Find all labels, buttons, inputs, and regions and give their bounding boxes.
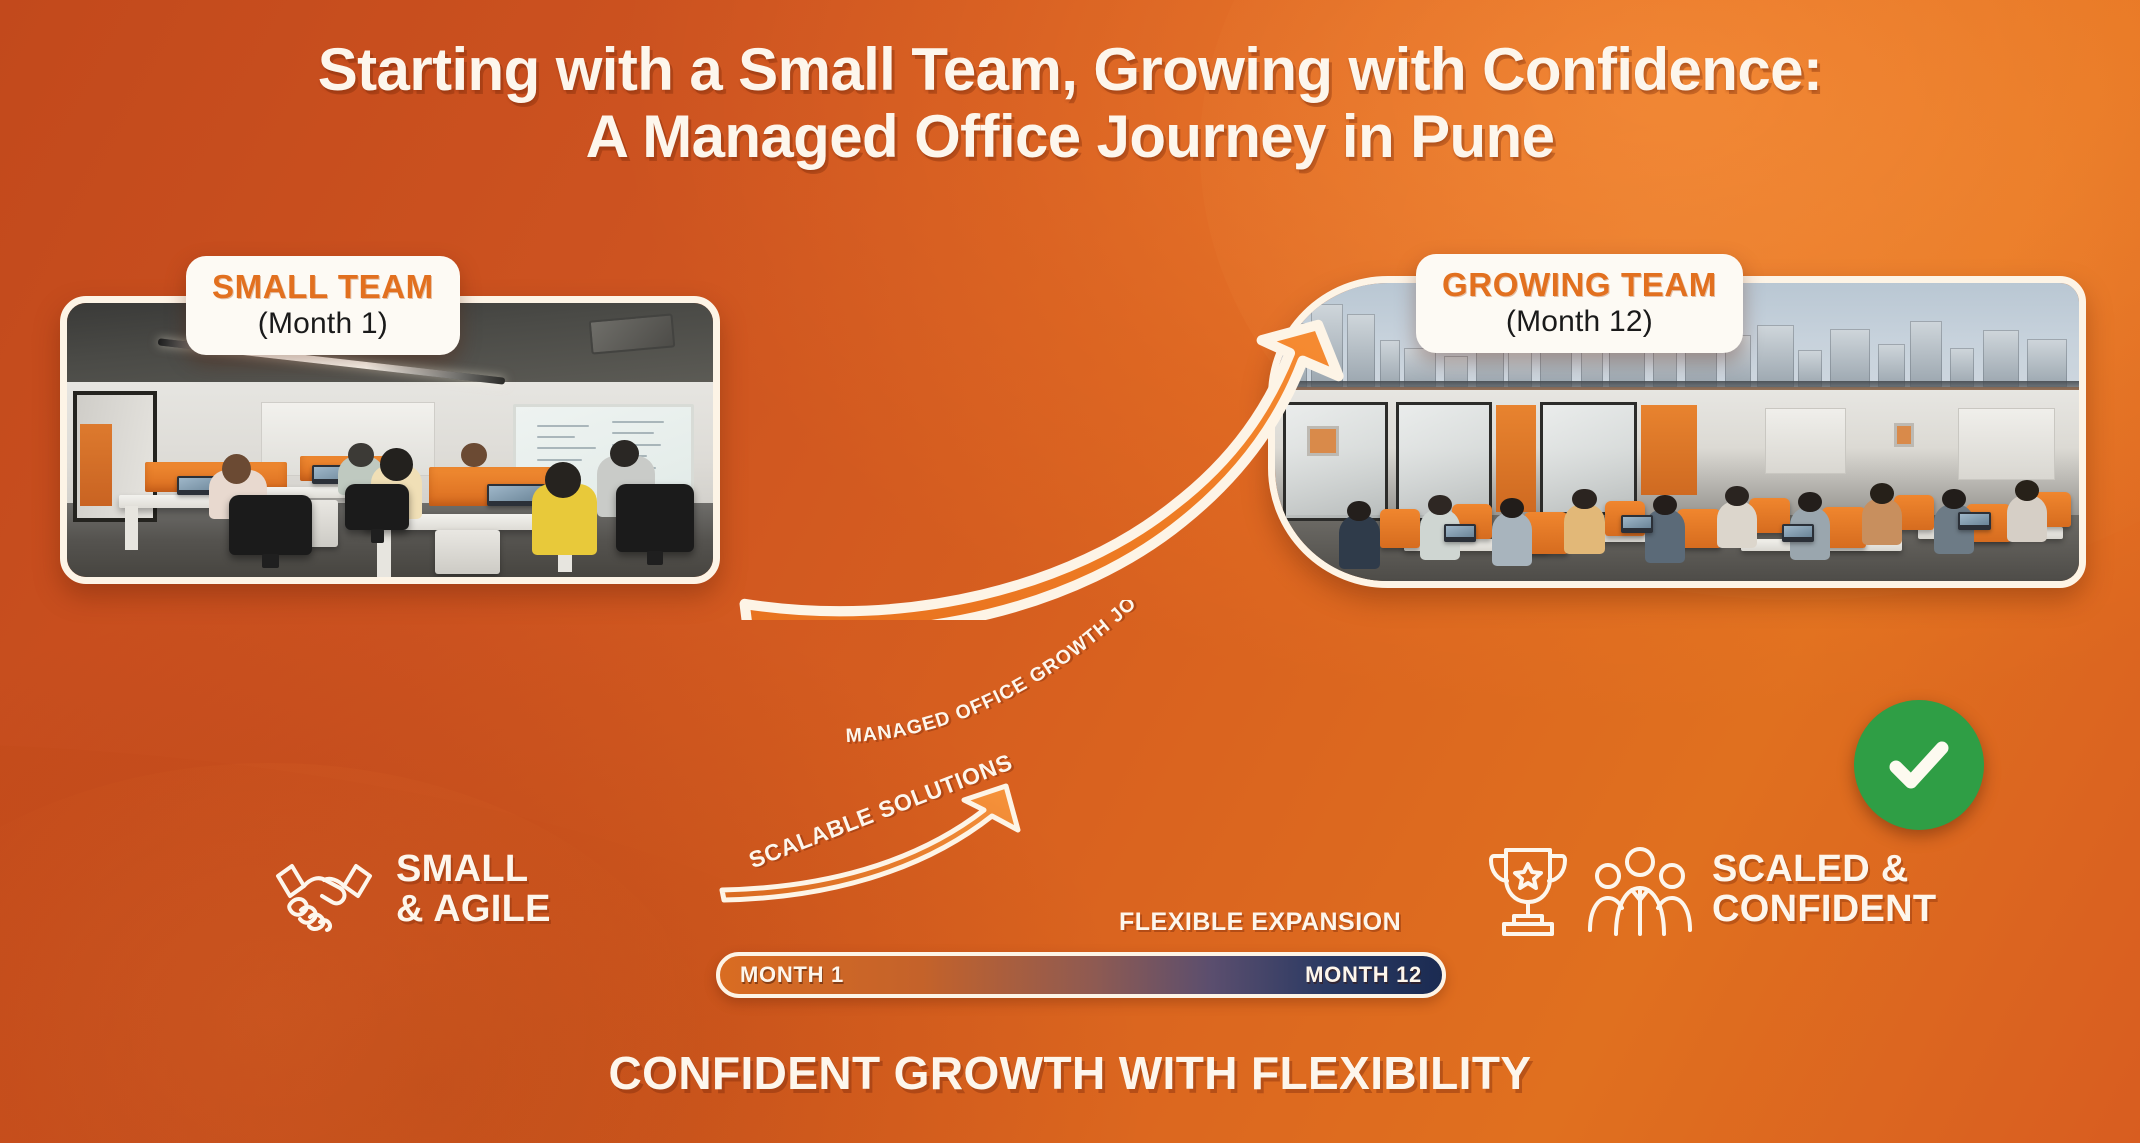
team-group-icon [1586, 842, 1694, 938]
worker-head [1428, 495, 1452, 516]
orange-task-chair [1380, 509, 1420, 548]
worker-head [610, 440, 639, 467]
office-chair [345, 484, 410, 531]
small-team-title: SMALL TEAM [212, 268, 434, 306]
growing-team-title: GROWING TEAM [1442, 266, 1717, 304]
worker-head [1572, 489, 1596, 510]
worker-head [348, 443, 374, 468]
laptop [1958, 512, 1990, 530]
svg-text:MANAGED OFFICE GROWTH JOURNEY: MANAGED OFFICE GROWTH JOURNEY [842, 600, 1141, 747]
timeline-start-label: MONTH 1 [740, 962, 844, 988]
handshake-icon [270, 846, 378, 934]
window-blinds [1765, 408, 1845, 474]
growth-arrow-label-text: MANAGED OFFICE GROWTH JOURNEY [842, 600, 1141, 747]
page-title-line-1: Starting with a Small Team, Growing with… [318, 36, 1822, 103]
laptop [1444, 524, 1476, 542]
worker-head [1798, 492, 1822, 513]
window-blinds [1958, 408, 2054, 480]
timeline-end-label: MONTH 12 [1305, 962, 1422, 988]
laptop [1621, 515, 1653, 533]
office-chair [616, 484, 694, 553]
bottom-tagline: CONFIDENT GROWTH WITH FLEXIBILITY [0, 1046, 2140, 1100]
feature-scaled-confident-text: SCALED & CONFIDENT [1712, 850, 1936, 930]
wall-art [1894, 423, 1914, 447]
growth-arrow-large [720, 290, 1360, 620]
seated-worker [1564, 504, 1604, 555]
seated-worker [1492, 512, 1532, 566]
worker-head [461, 443, 487, 468]
label-card-growing-team: GROWING TEAM (Month 12) [1416, 254, 1743, 353]
page-title: Starting with a Small Team, Growing with… [0, 36, 2140, 170]
orange-accent-wall [1496, 405, 1536, 512]
seated-worker [1717, 501, 1757, 549]
page-title-line-2: A Managed Office Journey in Pune [0, 103, 2140, 170]
seated-worker [1862, 498, 1902, 546]
worker-head [545, 462, 581, 498]
pedestal-cabinet [435, 530, 500, 574]
feature-scaled-confident-line-1: SCALED & [1712, 850, 1936, 890]
worker-head [2015, 480, 2039, 501]
success-check-badge [1854, 700, 1984, 830]
timeline-bar: MONTH 1 MONTH 12 [716, 952, 1446, 998]
office-chair [229, 495, 313, 555]
growing-team-subtitle: (Month 12) [1442, 305, 1717, 339]
check-circle-icon [1880, 726, 1958, 804]
feature-scaled-confident: SCALED & CONFIDENT [1482, 842, 1936, 938]
small-team-subtitle: (Month 1) [212, 307, 434, 341]
feature-small-agile-text: SMALL & AGILE [396, 850, 551, 930]
seated-worker [2007, 495, 2047, 543]
feature-small-agile-line-2: & AGILE [396, 890, 551, 930]
worker-head [1870, 483, 1894, 504]
orange-accent-wall [1641, 405, 1697, 494]
worker-head [380, 448, 412, 481]
feature-small-agile: SMALL & AGILE [270, 846, 551, 934]
worker-head [222, 454, 251, 484]
flexible-expansion-label: FLEXIBLE EXPANSION [1119, 908, 1401, 937]
label-card-small-team: SMALL TEAM (Month 1) [186, 256, 460, 355]
trophy-icon [1482, 842, 1574, 938]
laptop [1782, 524, 1814, 542]
feature-small-agile-line-1: SMALL [396, 850, 551, 890]
growth-arrow-label-path: MANAGED OFFICE GROWTH JOURNEY [842, 600, 1172, 770]
feature-scaled-confident-line-2: CONFIDENT [1712, 890, 1936, 930]
orange-wall-strip [80, 424, 112, 506]
ceiling-vent [589, 313, 676, 354]
